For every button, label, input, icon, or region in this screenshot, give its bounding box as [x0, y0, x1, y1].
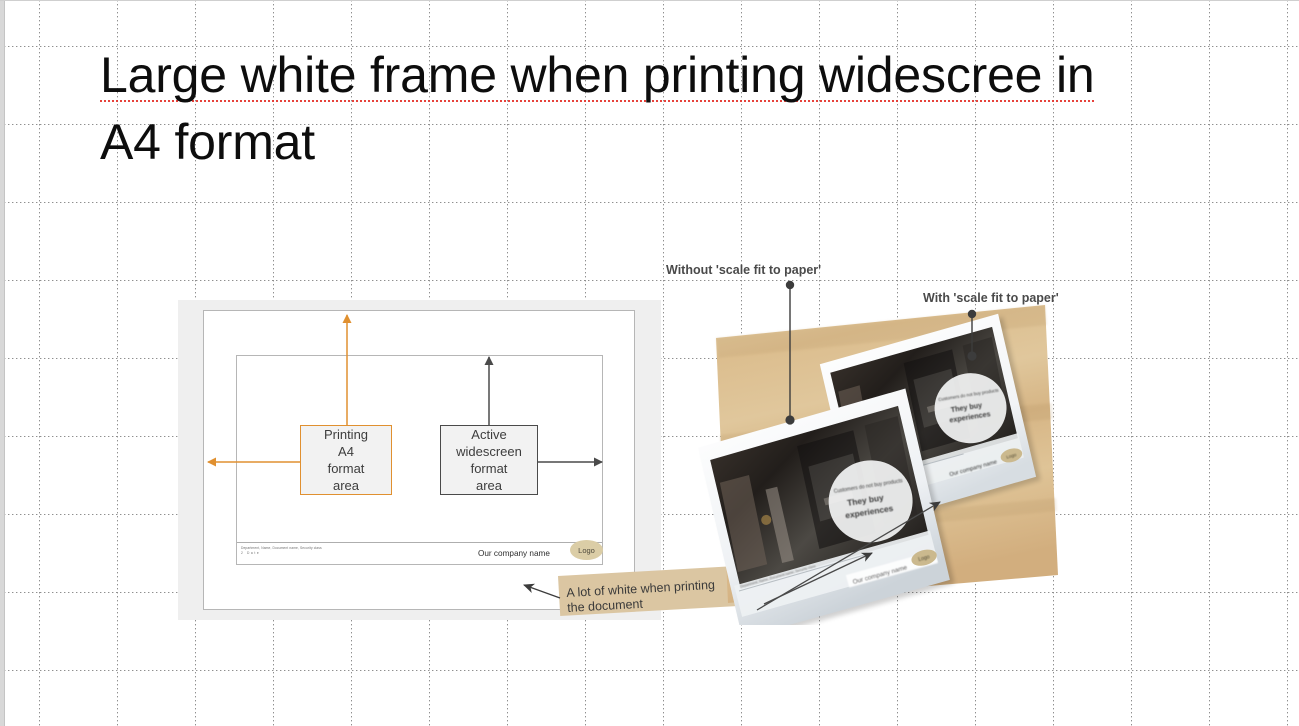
printing-a4-format-area-box[interactable]: Printing A4 format area: [300, 425, 392, 495]
title-line-1: Large white frame when printing widescre…: [100, 47, 1095, 105]
page-title[interactable]: Large white frame when printing widescre…: [100, 42, 1230, 176]
printing-box-line-2: A4: [338, 443, 354, 460]
active-box-line-4: area: [476, 477, 502, 494]
diagram-arrows: [178, 300, 661, 620]
slide-canvas: Large white frame when printing widescre…: [0, 0, 1299, 726]
active-box-line-3: format: [471, 460, 508, 477]
caption-with-scale-fit: With 'scale fit to paper': [923, 291, 1059, 305]
active-widescreen-format-area-box[interactable]: Active widescreen format area: [440, 425, 538, 495]
caption-without-scale-fit: Without 'scale fit to paper': [666, 263, 821, 277]
printing-box-line-3: format: [328, 460, 365, 477]
active-box-line-2: widescreen: [456, 443, 522, 460]
title-line-2: A4 format: [100, 114, 315, 170]
window-top-edge: [0, 0, 1299, 1]
slide-format-diagram: Department, Name, Document name, Securit…: [178, 300, 661, 620]
active-box-line-1: Active: [471, 426, 506, 443]
window-left-edge: [0, 0, 5, 726]
printing-box-line-4: area: [333, 477, 359, 494]
printing-box-line-1: Printing: [324, 426, 368, 443]
printout-photo: Customers do not buy products They buy e…: [660, 285, 1100, 625]
